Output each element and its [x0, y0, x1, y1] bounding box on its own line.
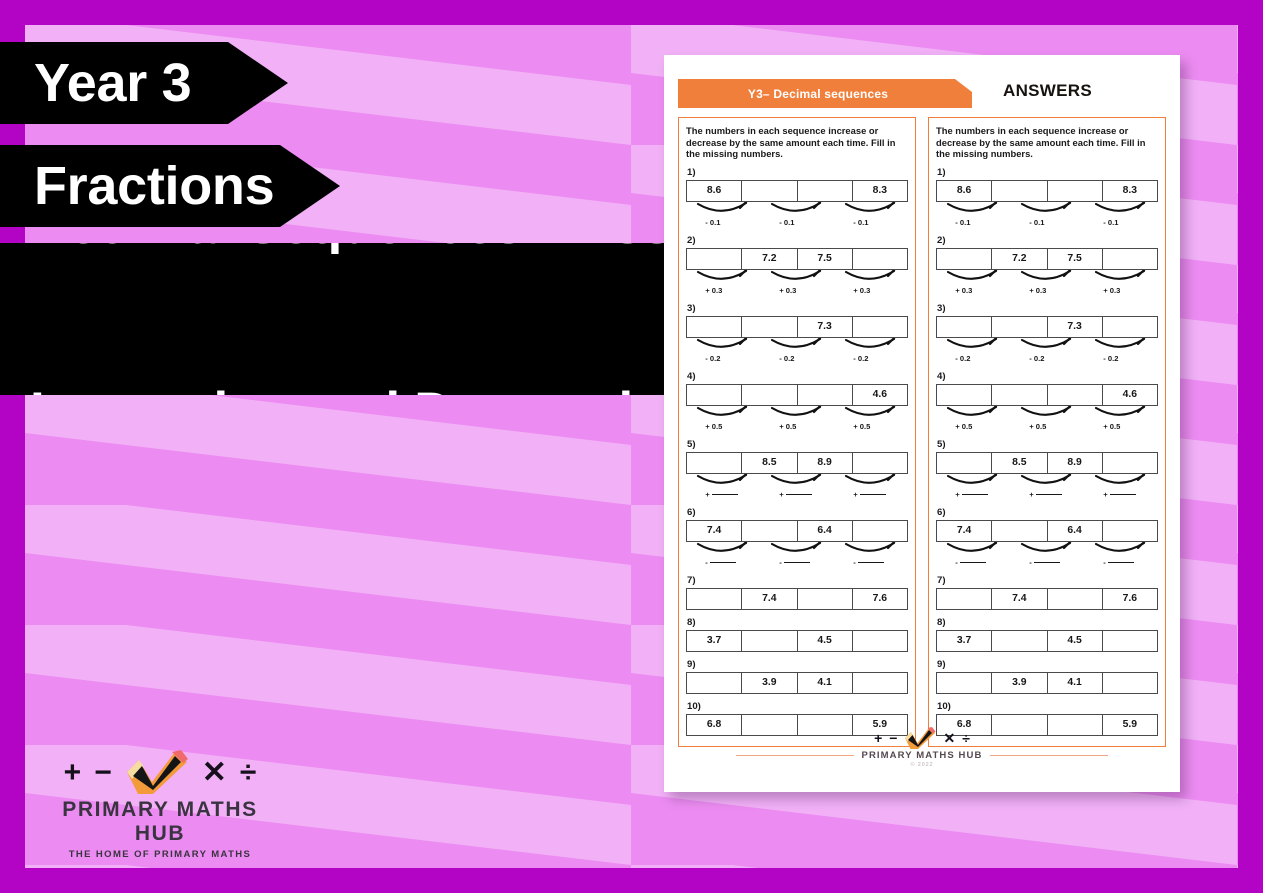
operation-label: - 0.1 — [1029, 218, 1044, 227]
worksheet-page: Y3– Decimal sequences ANSWERS The number… — [664, 55, 1180, 792]
sequence-cell-blank[interactable] — [1103, 521, 1157, 541]
sequence-row: 3.94.1 — [686, 672, 908, 694]
question-number: 9) — [937, 659, 1158, 670]
operation-label: + 0.3 — [1103, 286, 1120, 295]
banner-topic: Fractions — [0, 145, 340, 227]
sequence-cell-blank[interactable] — [937, 317, 992, 337]
sequence-cell-blank[interactable] — [687, 453, 742, 473]
sequence-cell-filled: 7.2 — [742, 249, 797, 269]
sequence-cell-filled: 8.6 — [937, 181, 992, 201]
sequence-cell-filled: 7.4 — [992, 589, 1047, 609]
operation-label: + 0.3 — [1029, 286, 1046, 295]
operation-label: + 0.3 — [779, 286, 796, 295]
sequence-cell-filled: 4.1 — [1048, 673, 1103, 693]
sequence-row: 7.47.6 — [686, 588, 908, 610]
sequence-cell-blank[interactable] — [853, 453, 907, 473]
sequence-row: 7.3 — [686, 316, 908, 338]
sequence-cell-blank[interactable] — [992, 521, 1047, 541]
banner-topic-label: Fractions — [34, 157, 274, 215]
operation-label: - 0.1 — [1103, 218, 1118, 227]
operation-arrows: + 0.5+ 0.5+ 0.5 — [936, 406, 1158, 432]
question-number: 6) — [687, 507, 908, 518]
sequence-cell-filled: 3.9 — [742, 673, 797, 693]
sequence-cell-filled: 3.7 — [687, 631, 742, 651]
sequence-cell-blank[interactable] — [992, 317, 1047, 337]
sequence-row: 8.68.3 — [936, 180, 1158, 202]
sequence-cell-blank[interactable] — [1103, 453, 1157, 473]
worksheet-title-banner: Y3– Decimal sequences — [678, 79, 972, 108]
sequence-row: 7.27.5 — [686, 248, 908, 270]
tick-pencil-icon — [904, 727, 936, 750]
question-number: 2) — [687, 235, 908, 246]
sequence-row: 7.46.4 — [936, 520, 1158, 542]
question-number: 5) — [687, 439, 908, 450]
operation-label: - 0.2 — [779, 354, 794, 363]
question-number: 8) — [937, 617, 1158, 628]
question-number: 10) — [687, 701, 908, 712]
sequence-row: 3.94.1 — [936, 672, 1158, 694]
sequence-cell-filled: 3.9 — [992, 673, 1047, 693]
sequence-cell-filled: 7.6 — [853, 589, 907, 609]
footer-symbol-row: + − ✕ ÷ — [874, 727, 970, 749]
operation-label: + 0.3 — [955, 286, 972, 295]
sequence-cell-blank[interactable] — [1048, 385, 1103, 405]
sequence-cell-blank[interactable] — [937, 385, 992, 405]
sequence-cell-filled: 4.6 — [853, 385, 907, 405]
operation-label: + 0.5 — [853, 422, 870, 431]
operation-arrows: - 0.2- 0.2- 0.2 — [936, 338, 1158, 364]
question-number: 1) — [687, 167, 908, 178]
sequence-cell-blank[interactable] — [937, 249, 992, 269]
sequence-cell-blank[interactable] — [1103, 249, 1157, 269]
operation-blank[interactable]: + — [779, 490, 811, 499]
sequence-cell-blank[interactable] — [853, 521, 907, 541]
operation-label: + 0.5 — [955, 422, 972, 431]
sequence-cell-filled: 4.5 — [798, 631, 853, 651]
banner-year-label: Year 3 — [34, 54, 191, 112]
sequence-cell-blank[interactable] — [1103, 673, 1157, 693]
sequence-cell-filled: 6.4 — [798, 521, 853, 541]
sequence-cell-blank[interactable] — [687, 673, 742, 693]
minus-icon: − — [889, 731, 897, 745]
sequence-row: 3.74.5 — [686, 630, 908, 652]
sequence-cell-blank[interactable] — [742, 385, 797, 405]
sequence-cell-blank[interactable] — [742, 521, 797, 541]
sequence-cell-filled: 4.6 — [1103, 385, 1157, 405]
divide-icon: ÷ — [962, 731, 970, 745]
operation-label: + 0.5 — [779, 422, 796, 431]
banner-year: Year 3 — [0, 42, 288, 124]
sequence-cell-blank[interactable] — [1048, 589, 1103, 609]
operation-blank[interactable]: + — [853, 490, 885, 499]
operation-arrows: +++ — [686, 474, 908, 500]
brand-tagline: THE HOME OF PRIMARY MATHS — [45, 849, 275, 860]
minus-icon: − — [94, 758, 112, 788]
operation-blank[interactable]: - — [705, 558, 736, 567]
sequence-row: 3.74.5 — [936, 630, 1158, 652]
sequence-cell-filled: 7.4 — [742, 589, 797, 609]
operation-blank[interactable]: + — [955, 490, 987, 499]
operation-label: - 0.2 — [853, 354, 868, 363]
operation-label: + 0.5 — [705, 422, 722, 431]
sequence-cell-filled: 7.3 — [798, 317, 853, 337]
sequence-row: 7.47.6 — [936, 588, 1158, 610]
operation-label: - 0.1 — [853, 218, 868, 227]
questions-column: The numbers in each sequence increase or… — [678, 117, 916, 747]
sequence-cell-blank[interactable] — [853, 249, 907, 269]
sequence-cell-filled: 8.3 — [1103, 181, 1157, 201]
sequence-cell-filled: 7.4 — [687, 521, 742, 541]
poster-root: Year 3 Fractions Decimal Sequences- Miss… — [0, 0, 1263, 893]
operation-arrows: - 0.2- 0.2- 0.2 — [686, 338, 908, 364]
question-number: 8) — [687, 617, 908, 628]
question-number: 4) — [687, 371, 908, 382]
operation-arrows: + 0.3+ 0.3+ 0.3 — [686, 270, 908, 296]
sequence-cell-filled: 8.9 — [798, 453, 853, 473]
operation-label: - 0.1 — [705, 218, 720, 227]
operation-label: - 0.2 — [1103, 354, 1118, 363]
operation-blank[interactable]: - — [779, 558, 810, 567]
sequence-cell-filled: 7.5 — [798, 249, 853, 269]
worksheet-title-label: Y3– Decimal sequences — [748, 87, 888, 101]
sequence-row: 8.58.9 — [686, 452, 908, 474]
operation-arrows: - 0.1- 0.1- 0.1 — [686, 202, 908, 228]
sequence-cell-filled: 8.5 — [992, 453, 1047, 473]
sequence-row: 8.68.3 — [686, 180, 908, 202]
answers-heading: ANSWERS — [1003, 81, 1092, 101]
operation-label: + 0.3 — [853, 286, 870, 295]
operation-blank[interactable]: + — [1029, 490, 1061, 499]
worksheet-header: Y3– Decimal sequences ANSWERS — [678, 73, 1166, 115]
question-number: 2) — [937, 235, 1158, 246]
operation-arrows: --- — [936, 542, 1158, 568]
sequence-cell-filled: 4.1 — [798, 673, 853, 693]
operation-blank[interactable]: - — [1029, 558, 1060, 567]
sequence-cell-blank[interactable] — [992, 385, 1047, 405]
question-number: 5) — [937, 439, 1158, 450]
sequence-row: 7.46.4 — [686, 520, 908, 542]
operation-label: - 0.2 — [705, 354, 720, 363]
sequence-cell-filled: 8.5 — [742, 453, 797, 473]
operation-blank[interactable]: + — [705, 490, 737, 499]
sequence-cell-blank[interactable] — [992, 631, 1047, 651]
multiply-icon: ✕ — [202, 758, 227, 788]
sequence-row: 7.27.5 — [936, 248, 1158, 270]
operation-label: + 0.5 — [1029, 422, 1046, 431]
sequence-cell-blank[interactable] — [853, 631, 907, 651]
operation-label: + 0.5 — [1103, 422, 1120, 431]
sequence-cell-blank[interactable] — [853, 317, 907, 337]
sequence-cell-blank[interactable] — [687, 385, 742, 405]
question-number: 7) — [687, 575, 908, 586]
sequence-row: 7.3 — [936, 316, 1158, 338]
sequence-cell-blank[interactable] — [742, 317, 797, 337]
sequence-cell-filled: 7.6 — [1103, 589, 1157, 609]
question-number: 3) — [937, 303, 1158, 314]
sequence-cell-blank[interactable] — [687, 589, 742, 609]
operation-arrows: +++ — [936, 474, 1158, 500]
operation-arrows: + 0.5+ 0.5+ 0.5 — [686, 406, 908, 432]
footer-brand-name: PRIMARY MATHS HUB — [862, 750, 983, 761]
question-number: 1) — [937, 167, 1158, 178]
operation-blank[interactable]: + — [1103, 490, 1135, 499]
sequence-cell-blank[interactable] — [937, 453, 992, 473]
question-number: 9) — [687, 659, 908, 670]
sequence-cell-blank[interactable] — [992, 181, 1047, 201]
plus-icon: + — [64, 758, 82, 788]
question-number: 3) — [687, 303, 908, 314]
brand-logo: + − ✕ ÷ PRIMARY MATHS HUB THE HOME OF PR… — [45, 750, 275, 860]
sequence-cell-filled: 7.3 — [1048, 317, 1103, 337]
operation-arrows: - 0.1- 0.1- 0.1 — [936, 202, 1158, 228]
sequence-cell-blank[interactable] — [687, 249, 742, 269]
worksheet-footer: + − ✕ ÷ PRIMARY MATHS HUB © 202 — [664, 727, 1180, 768]
sequence-cell-blank[interactable] — [1103, 631, 1157, 651]
tick-pencil-icon — [125, 750, 189, 796]
sequence-cell-blank[interactable] — [1048, 181, 1103, 201]
sequence-cell-blank[interactable] — [853, 673, 907, 693]
sequence-cell-filled: 8.9 — [1048, 453, 1103, 473]
footer-name-row: PRIMARY MATHS HUB — [736, 750, 1109, 761]
sequence-cell-filled: 4.5 — [1048, 631, 1103, 651]
sequence-cell-filled: 8.3 — [853, 181, 907, 201]
sequence-cell-blank[interactable] — [798, 589, 853, 609]
sequence-cell-blank[interactable] — [937, 673, 992, 693]
sequence-cell-filled: 6.4 — [1048, 521, 1103, 541]
operation-blank[interactable]: - — [853, 558, 884, 567]
sequence-row: 4.6 — [936, 384, 1158, 406]
divide-icon: ÷ — [240, 758, 256, 788]
operation-label: - 0.2 — [1029, 354, 1044, 363]
sequence-cell-blank[interactable] — [687, 317, 742, 337]
multiply-icon: ✕ — [943, 731, 955, 745]
footer-rule-right — [990, 755, 1108, 756]
worksheet-columns: The numbers in each sequence increase or… — [678, 117, 1166, 747]
sequence-cell-filled: 7.5 — [1048, 249, 1103, 269]
instruction-text: The numbers in each sequence increase or… — [686, 125, 908, 160]
footer-rule-left — [736, 755, 854, 756]
sequence-cell-filled: 7.4 — [937, 521, 992, 541]
sequence-row: 4.6 — [686, 384, 908, 406]
question-number: 7) — [937, 575, 1158, 586]
operation-label: - 0.1 — [955, 218, 970, 227]
sequence-cell-blank[interactable] — [937, 589, 992, 609]
footer-copyright: © 2022 — [911, 762, 934, 768]
operation-label: - 0.1 — [779, 218, 794, 227]
sequence-cell-blank[interactable] — [798, 181, 853, 201]
sequence-cell-filled: 8.6 — [687, 181, 742, 201]
instruction-text: The numbers in each sequence increase or… — [936, 125, 1158, 160]
operation-arrows: --- — [686, 542, 908, 568]
sequence-cell-blank[interactable] — [742, 181, 797, 201]
question-number: 4) — [937, 371, 1158, 382]
answers-column: The numbers in each sequence increase or… — [928, 117, 1166, 747]
question-number: 10) — [937, 701, 1158, 712]
brand-symbol-row: + − ✕ ÷ — [45, 750, 275, 796]
sequence-cell-blank[interactable] — [742, 631, 797, 651]
operation-blank[interactable]: - — [1103, 558, 1134, 567]
operation-label: + 0.3 — [705, 286, 722, 295]
operation-arrows: + 0.3+ 0.3+ 0.3 — [936, 270, 1158, 296]
operation-blank[interactable]: - — [955, 558, 986, 567]
brand-name: PRIMARY MATHS HUB — [45, 798, 275, 846]
sequence-row: 8.58.9 — [936, 452, 1158, 474]
plus-icon: + — [874, 731, 882, 745]
operation-label: - 0.2 — [955, 354, 970, 363]
question-number: 6) — [937, 507, 1158, 518]
sequence-cell-blank[interactable] — [798, 385, 853, 405]
sequence-cell-filled: 3.7 — [937, 631, 992, 651]
sequence-cell-blank[interactable] — [1103, 317, 1157, 337]
sequence-cell-filled: 7.2 — [992, 249, 1047, 269]
